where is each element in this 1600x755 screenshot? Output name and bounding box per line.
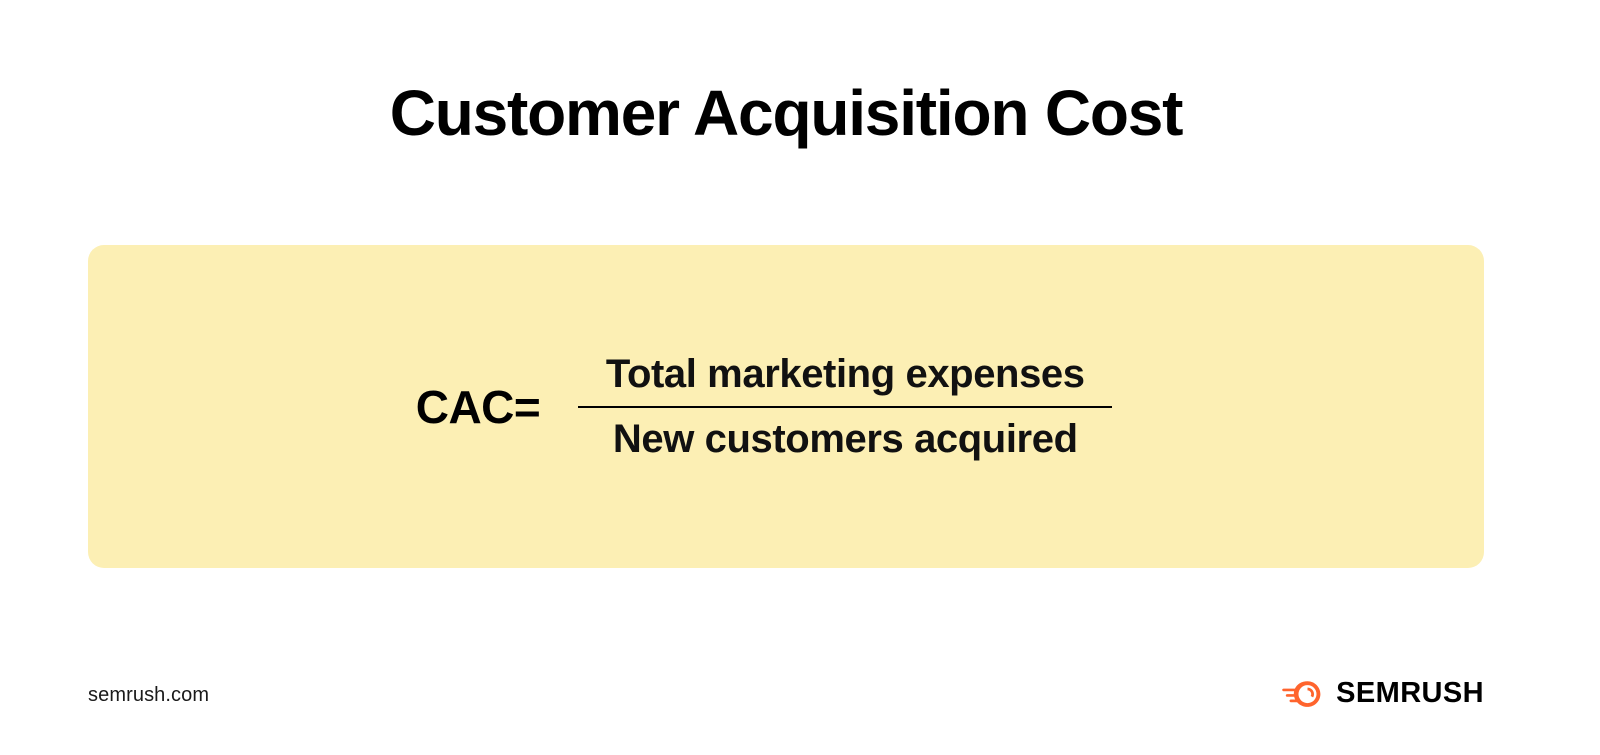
formula-denominator: New customers acquired (589, 408, 1102, 462)
formula-lhs-label: CAC= (416, 380, 541, 434)
semrush-comet-icon (1282, 678, 1324, 708)
footer-url: semrush.com (88, 684, 209, 707)
semrush-wordmark: SEMRUSH (1336, 679, 1484, 708)
cac-formula: CAC= Total marketing expenses New custom… (88, 245, 1484, 568)
formula-numerator: Total marketing expenses (582, 352, 1109, 406)
page-title: Customer Acquisition Cost (0, 78, 1572, 148)
slide-canvas: Customer Acquisition Cost CAC= Total mar… (0, 0, 1600, 755)
formula-fraction: Total marketing expenses New customers a… (578, 352, 1112, 462)
semrush-logo: SEMRUSH (1282, 678, 1484, 708)
formula-panel: CAC= Total marketing expenses New custom… (88, 245, 1484, 568)
